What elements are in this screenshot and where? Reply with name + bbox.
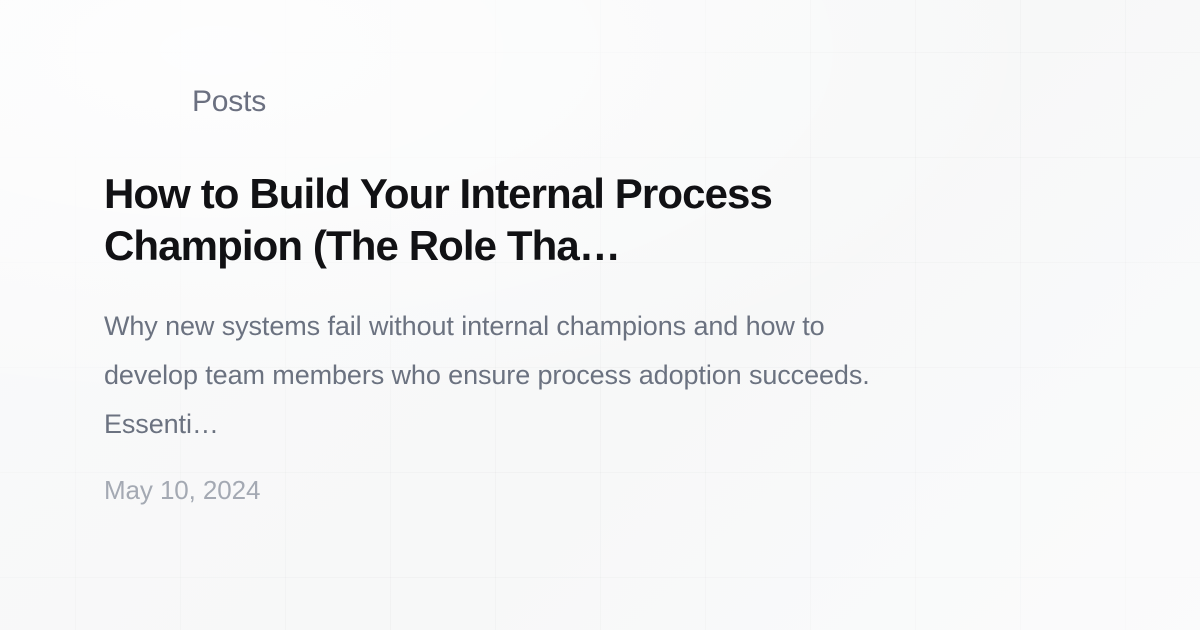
- post-description: Why new systems fail without internal ch…: [104, 302, 924, 449]
- post-preview-card: Posts How to Build Your Internal Process…: [0, 0, 1200, 630]
- section-eyebrow-label: Posts: [192, 80, 266, 124]
- post-date: May 10, 2024: [104, 470, 260, 510]
- card-content: Posts How to Build Your Internal Process…: [104, 0, 984, 630]
- page-title: How to Build Your Internal Process Champ…: [104, 168, 960, 272]
